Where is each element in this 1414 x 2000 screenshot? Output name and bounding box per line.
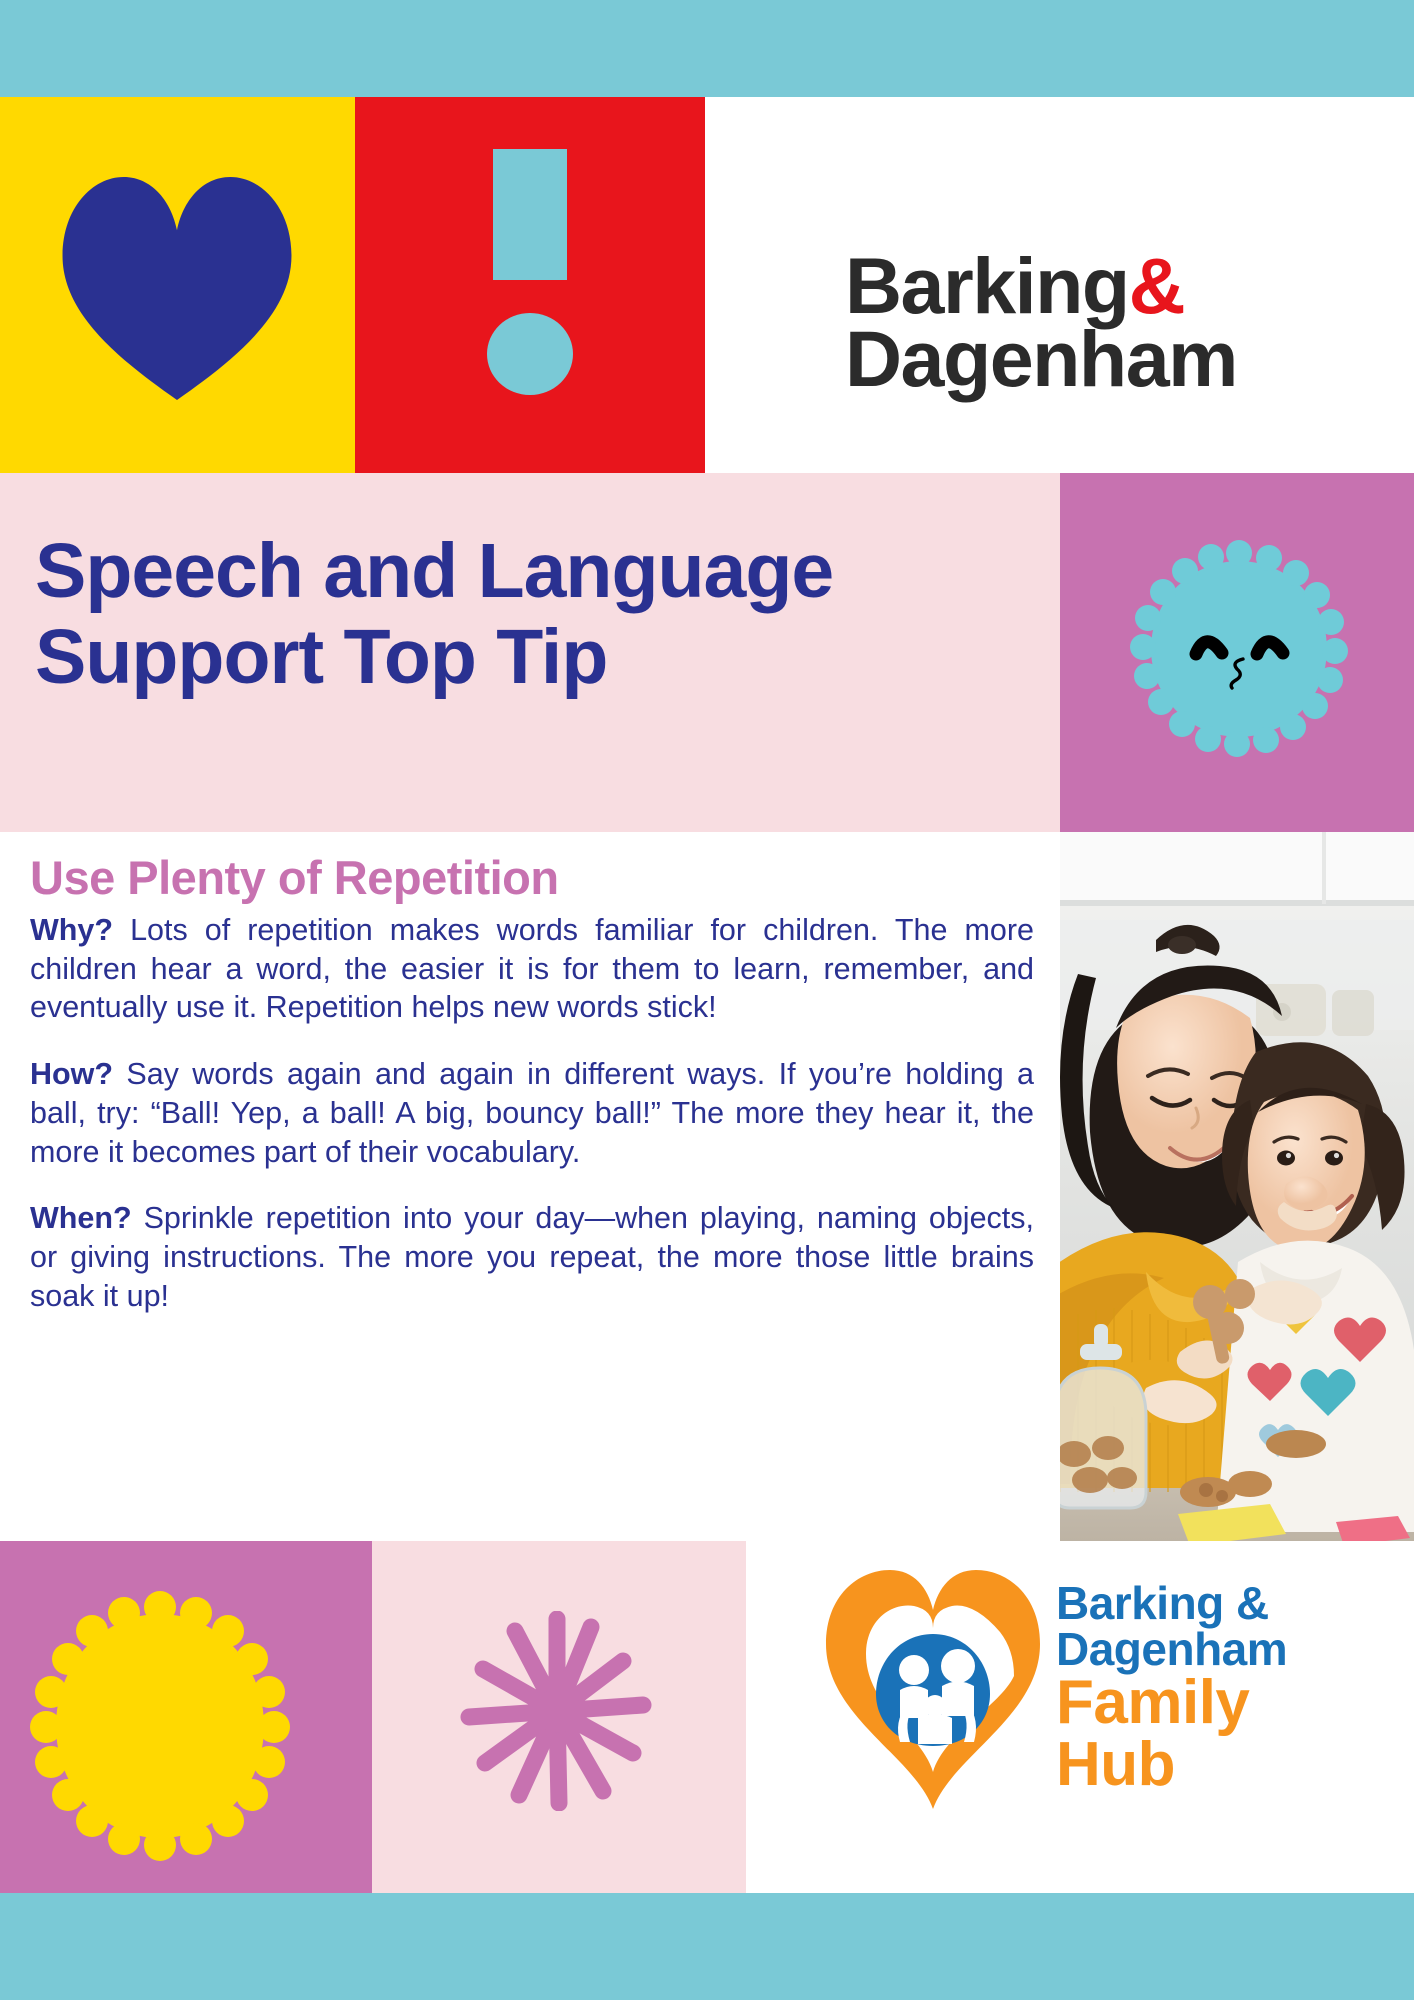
hub-line-1: Barking & [1056, 1580, 1287, 1626]
paragraph-why-lead: Why? [30, 913, 113, 947]
page-title-line2: Support Top Tip [35, 614, 607, 700]
paragraph-why: Why? Lots of repetition makes words fami… [30, 911, 1034, 1027]
paragraph-how-lead: How? [30, 1057, 113, 1091]
title-purple-panel [1060, 473, 1414, 832]
heart-icon [58, 175, 296, 400]
exclamation-icon [493, 149, 567, 280]
paragraph-when: When? Sprinkle repetition into your day—… [30, 1199, 1034, 1315]
footer: Barking & Dagenham Family Hub [0, 1541, 1414, 1893]
family-hub-wordmark: Barking & Dagenham Family Hub [1056, 1580, 1287, 1796]
mother-and-child-photo [1060, 832, 1414, 1541]
council-logo-line2: Dagenham [845, 314, 1237, 403]
footer-purple-panel [0, 1541, 372, 1893]
hub-line-3: Family [1056, 1672, 1287, 1734]
paragraph-how-text: Say words again and again in different w… [30, 1057, 1034, 1168]
blob-face-kissing-icon [1129, 539, 1349, 759]
family-hub-logo: Barking & Dagenham Family Hub [818, 1566, 1378, 1826]
top-accent-band [0, 0, 1414, 97]
footer-pink-panel [372, 1541, 746, 1893]
main-content: Use Plenty of Repetition Why? Lots of re… [0, 832, 1060, 1541]
poster-root: Barking& Dagenham Speech and Language Su… [0, 0, 1414, 2000]
council-logo: Barking& Dagenham [845, 249, 1265, 396]
page-title-line1: Speech and Language [35, 528, 833, 614]
masthead: Barking& Dagenham [0, 97, 1414, 473]
page-title: Speech and Language Support Top Tip [35, 528, 1035, 700]
paragraph-why-text: Lots of repetition makes words familiar … [30, 913, 1034, 1024]
paragraph-how: How? Say words again and again in differ… [30, 1055, 1034, 1171]
family-hub-heart-icon [818, 1566, 1048, 1811]
masthead-yellow-panel [0, 97, 355, 473]
hub-line-4: Hub [1056, 1734, 1287, 1796]
exclamation-dot-icon [487, 313, 573, 395]
bottom-accent-band [0, 1893, 1414, 2000]
paragraph-when-lead: When? [30, 1201, 132, 1235]
paragraph-when-text: Sprinkle repetition into your day—when p… [30, 1201, 1034, 1312]
title-band: Speech and Language Support Top Tip [0, 473, 1414, 832]
yellow-cog-blob-icon [30, 1591, 290, 1861]
masthead-red-panel [355, 97, 705, 473]
title-pink-panel: Speech and Language Support Top Tip [0, 473, 1060, 832]
pink-starburst-icon [457, 1611, 657, 1811]
hub-line-2: Dagenham [1056, 1626, 1287, 1672]
section-heading: Use Plenty of Repetition [30, 850, 1034, 905]
